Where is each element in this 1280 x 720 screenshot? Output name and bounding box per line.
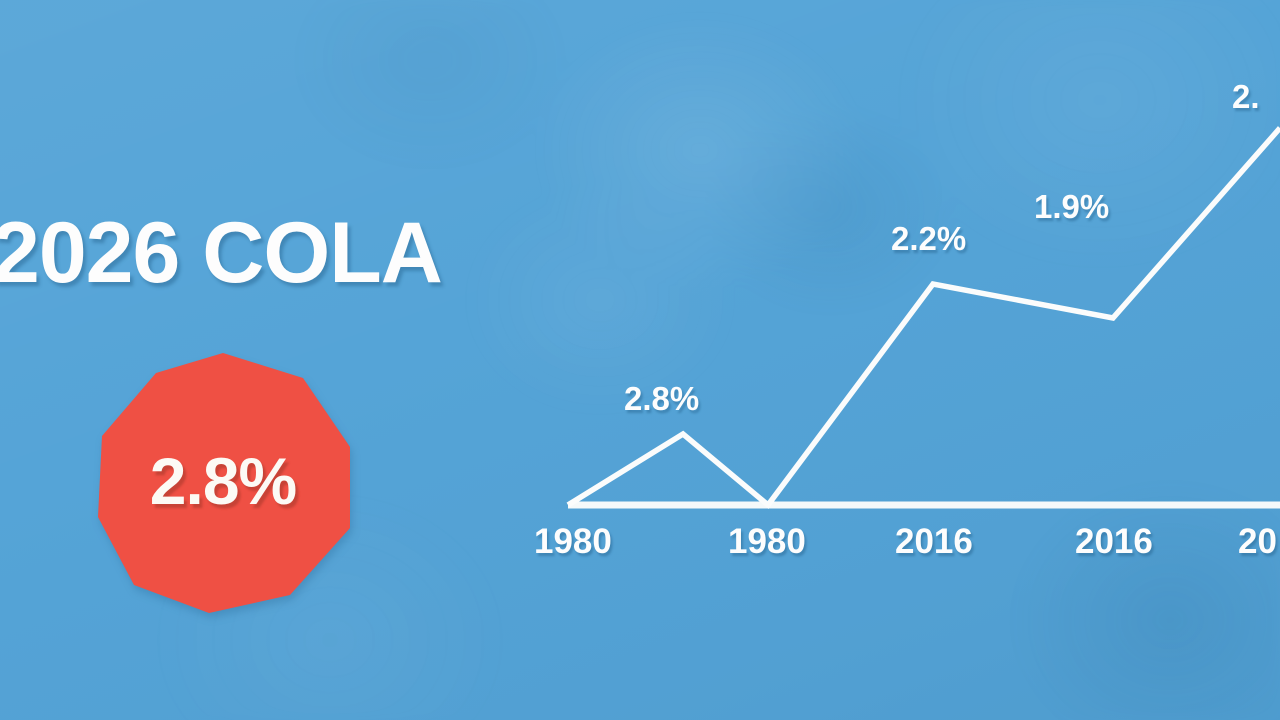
- data-label-4: 2.: [1232, 80, 1260, 113]
- x-tick-label-4: 2016: [1075, 524, 1153, 559]
- chart-series-line: [568, 128, 1280, 505]
- x-tick-label-3: 2016: [895, 524, 973, 559]
- x-tick-label-5: 20: [1238, 524, 1277, 559]
- data-label-1: 2.8%: [624, 382, 699, 415]
- x-tick-label-2: 1980: [728, 524, 806, 559]
- data-label-2: 2.2%: [891, 222, 966, 255]
- data-label-3: 1.9%: [1034, 190, 1109, 223]
- x-tick-label-1: 1980: [534, 524, 612, 559]
- cola-trend-chart: [0, 0, 1280, 720]
